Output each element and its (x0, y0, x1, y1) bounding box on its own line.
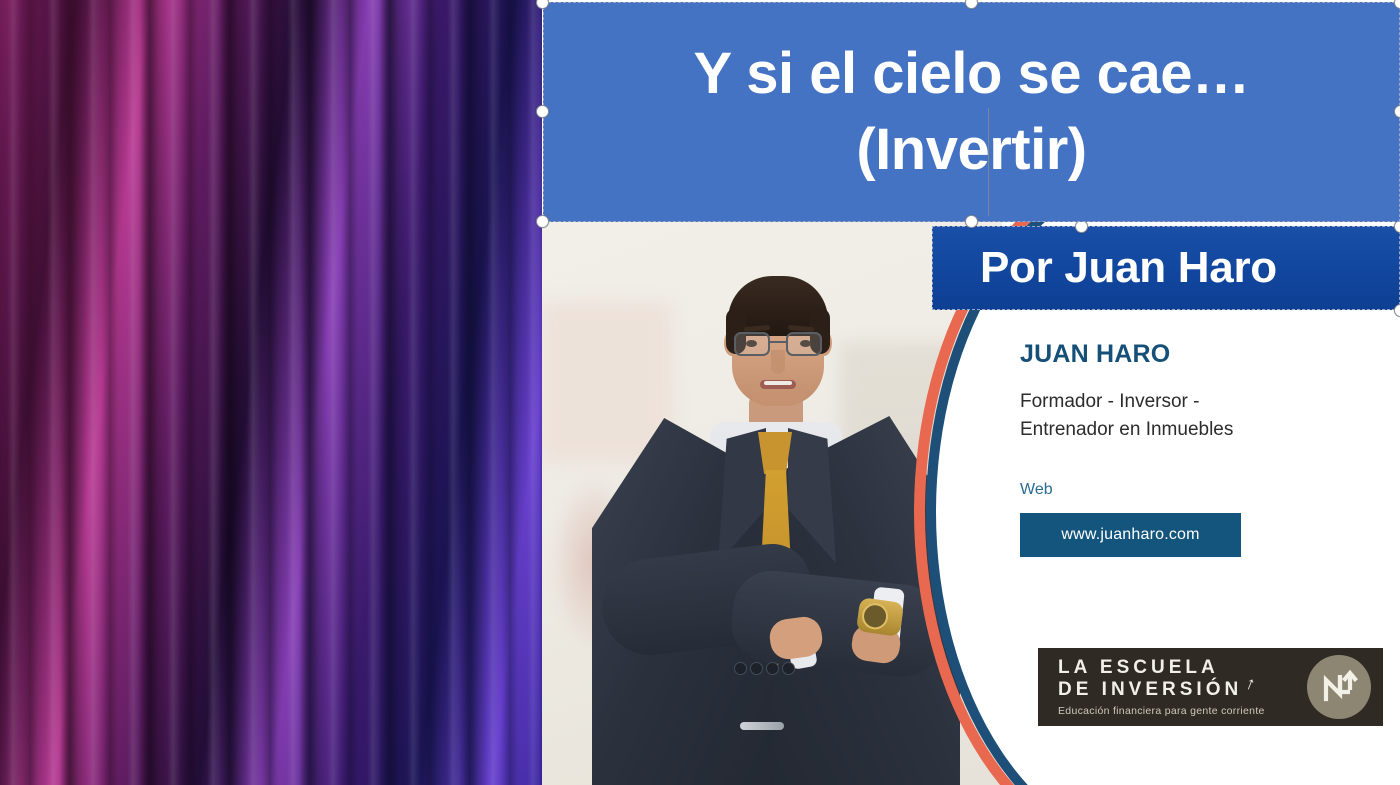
subtitle-text: Por Juan Haro (932, 243, 1277, 293)
logo-mark-circle (1307, 655, 1371, 719)
sleeve-button (766, 662, 779, 675)
card-role: Formador - Inversor - Entrenador en Inmu… (1020, 388, 1400, 443)
title-line-1: Y si el cielo se cae… (694, 45, 1250, 103)
logo-line-2: DE INVERSIÓN (1058, 679, 1242, 700)
card-role-line-2: Entrenador en Inmuebles (1020, 416, 1400, 444)
glasses-lens-right (786, 332, 822, 356)
background-tint-layer (0, 0, 542, 785)
subtitle-textbox[interactable]: Por Juan Haro (932, 226, 1400, 310)
sleeve-button (734, 662, 747, 675)
escuela-de-inversion-logo: LA ESCUELA DE INVERSIÓN ↑ Educación fina… (1038, 648, 1383, 726)
logo-tagline: Educación financiera para gente corrient… (1058, 705, 1307, 717)
slide-background-image (0, 0, 542, 785)
person-nose (771, 350, 785, 374)
text-cursor-caret (988, 108, 989, 216)
logo-line-2-wrap: DE INVERSIÓN ↑ (1058, 679, 1242, 700)
selection-handle-middle-left[interactable] (536, 105, 549, 118)
selection-handle-middle-right[interactable] (1394, 105, 1400, 118)
selection-handle-bottom-center[interactable] (965, 215, 978, 228)
person-chin (750, 390, 806, 406)
selection-handle-sub-bottom-right[interactable] (1394, 304, 1400, 317)
n-arrow-icon (1319, 667, 1359, 707)
card-name: JUAN HARO (1020, 340, 1400, 369)
title-line-2: (Invertir) (856, 121, 1086, 179)
website-url-button[interactable]: www.juanharo.com (1020, 513, 1241, 557)
title-textbox[interactable]: Y si el cielo se cae… (Invertir) (543, 2, 1400, 222)
selection-handle-bottom-left[interactable] (536, 215, 549, 228)
logo-text-block: LA ESCUELA DE INVERSIÓN ↑ Educación fina… (1038, 657, 1307, 717)
person-teeth (764, 381, 792, 385)
glasses-lens-left (734, 332, 770, 356)
person-sleeve-buttons (734, 662, 804, 676)
watch-face (860, 602, 889, 631)
slide-canvas: JUAN HARO Formador - Inversor - Entrenad… (0, 0, 1400, 785)
logo-line-1: LA ESCUELA (1058, 657, 1307, 678)
person-bracelet (740, 722, 784, 730)
sleeve-button (782, 662, 795, 675)
card-role-line-1: Formador - Inversor - (1020, 388, 1400, 416)
sleeve-button (750, 662, 763, 675)
card-web-label: Web (1020, 481, 1400, 499)
glasses-bridge (770, 341, 786, 343)
wristwatch-icon (856, 597, 904, 637)
